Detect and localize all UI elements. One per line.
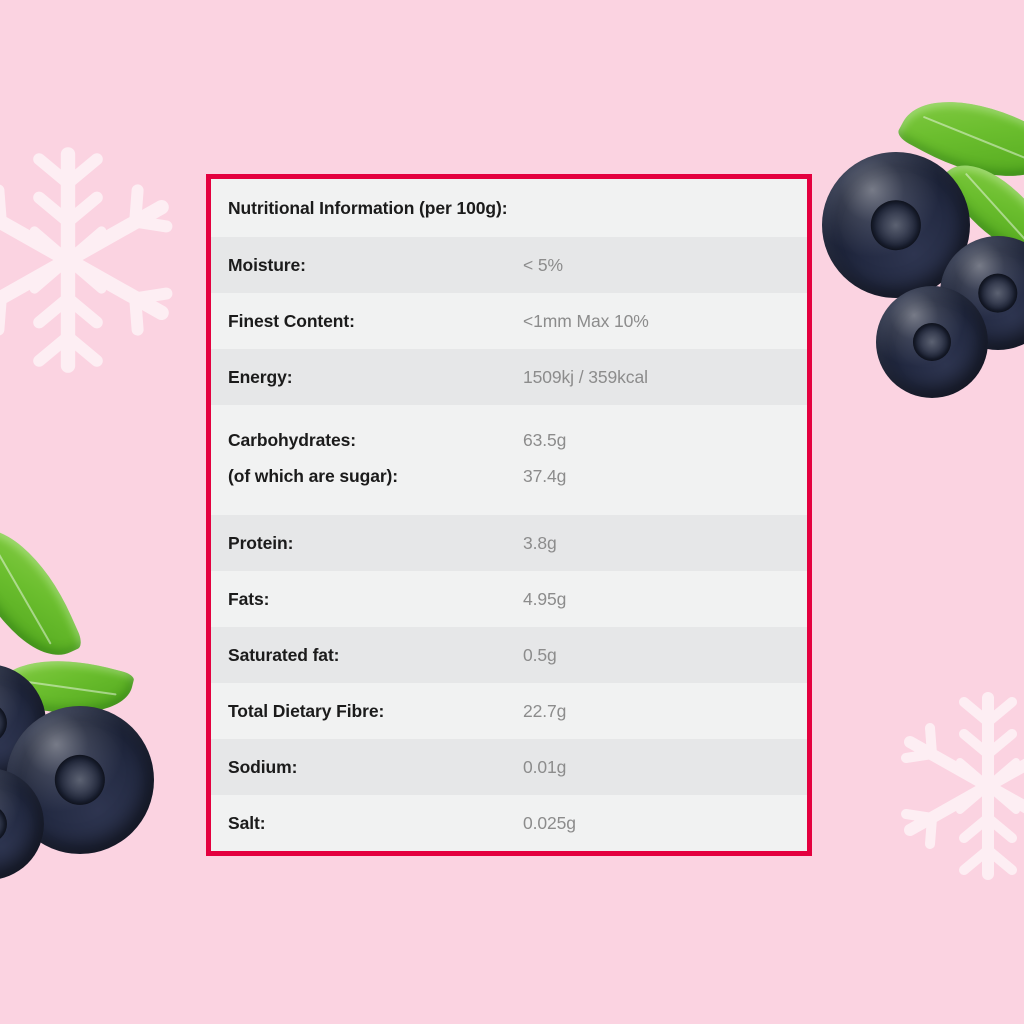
table-row: Finest Content: <1mm Max 10% <box>211 293 807 349</box>
table-row: Fats: 4.95g <box>211 571 807 627</box>
table-row: Energy: 1509kj / 359kcal <box>211 349 807 405</box>
table-row: Carbohydrates: (of which are sugar): 63.… <box>211 405 807 515</box>
row-label: Carbohydrates: <box>228 422 523 458</box>
row-value: < 5% <box>523 252 563 278</box>
blueberry-shape <box>876 286 988 398</box>
snowflake-icon <box>0 140 188 380</box>
blueberry-cluster-bottom-left <box>0 548 186 898</box>
row-label: Protein: <box>228 530 523 556</box>
blueberry-cluster-top-right <box>808 96 1024 426</box>
row-label: Sodium: <box>228 754 523 780</box>
row-value: 1509kj / 359kcal <box>523 364 648 390</box>
row-sublabel: (of which are sugar): <box>228 458 523 494</box>
panel-title: Nutritional Information (per 100g): <box>228 198 507 219</box>
nutrition-table-header: Nutritional Information (per 100g): <box>211 179 807 237</box>
row-value: 0.5g <box>523 642 557 668</box>
row-value-group: 63.5g 37.4g <box>523 422 566 494</box>
row-label-group: Carbohydrates: (of which are sugar): <box>228 422 523 494</box>
table-row: Saturated fat: 0.5g <box>211 627 807 683</box>
row-value: 22.7g <box>523 698 566 724</box>
table-row: Protein: 3.8g <box>211 515 807 571</box>
table-row: Moisture: < 5% <box>211 237 807 293</box>
row-value: <1mm Max 10% <box>523 308 649 334</box>
nutrition-information-panel: Nutritional Information (per 100g): Mois… <box>206 174 812 856</box>
leaf-shape <box>0 509 84 675</box>
row-label: Salt: <box>228 810 523 836</box>
row-value: 3.8g <box>523 530 557 556</box>
row-value: 0.01g <box>523 754 566 780</box>
row-label: Saturated fat: <box>228 642 523 668</box>
row-label: Moisture: <box>228 252 523 278</box>
table-row: Total Dietary Fibre: 22.7g <box>211 683 807 739</box>
snowflake-icon <box>888 686 1024 886</box>
row-value: 4.95g <box>523 586 566 612</box>
row-label: Energy: <box>228 364 523 390</box>
row-label: Fats: <box>228 586 523 612</box>
row-value: 63.5g <box>523 422 566 458</box>
row-value: 0.025g <box>523 810 576 836</box>
row-subvalue: 37.4g <box>523 458 566 494</box>
row-label: Finest Content: <box>228 308 523 334</box>
row-label: Total Dietary Fibre: <box>228 698 523 724</box>
table-row: Salt: 0.025g <box>211 795 807 851</box>
table-row: Sodium: 0.01g <box>211 739 807 795</box>
